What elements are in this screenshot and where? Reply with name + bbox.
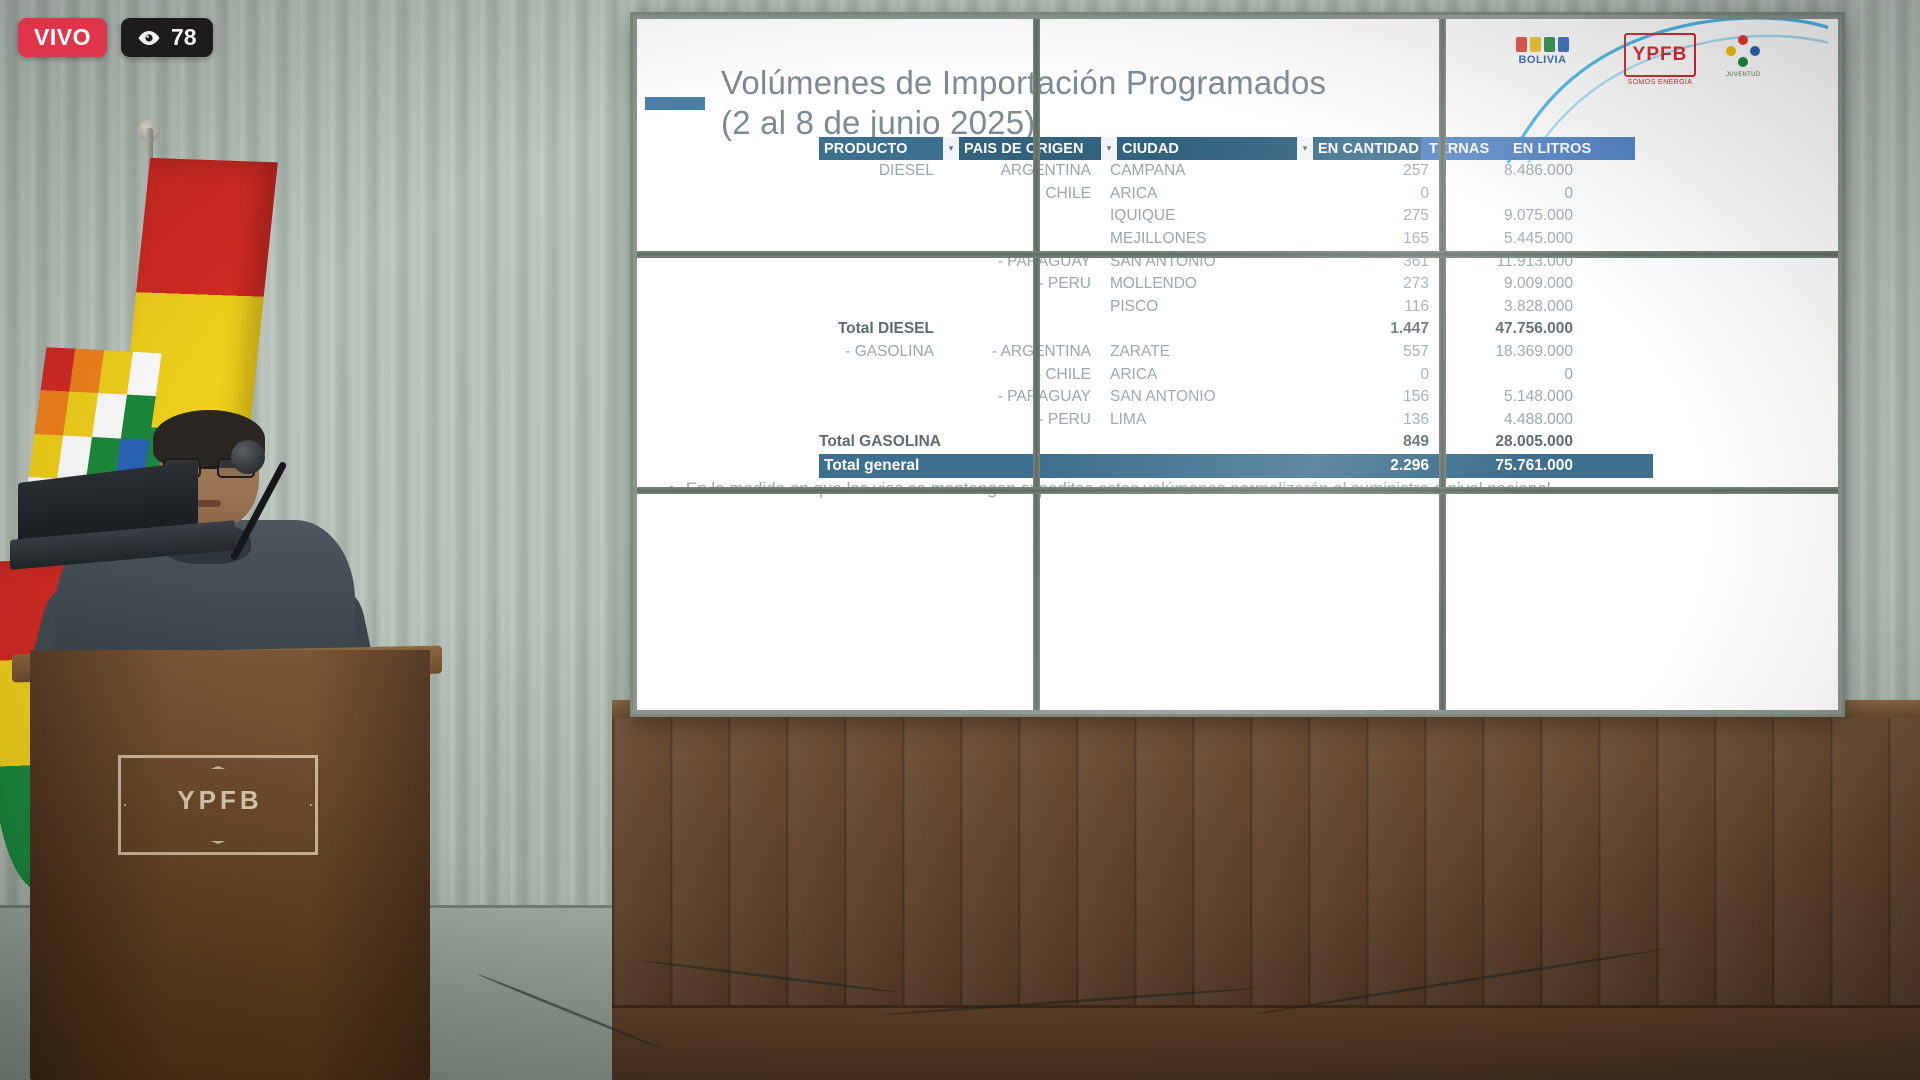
- livestream-frame: Volúmenes de Importación Programados (2 …: [0, 0, 1920, 1080]
- table-row: Total GASOLINA84928.005.000: [819, 431, 1653, 454]
- viewer-count-badge: 78: [121, 18, 213, 57]
- video-wall: Volúmenes de Importación Programados (2 …: [630, 12, 1845, 717]
- glasses-bridge: [201, 466, 217, 469]
- slide-title: Volúmenes de Importación Programados (2 …: [721, 63, 1461, 144]
- table-row: - PERULIMA1364.488.000: [819, 409, 1653, 432]
- filter-dropdown-icon[interactable]: ▾: [943, 137, 959, 160]
- stream-overlay-badges: VIVO 78: [18, 18, 213, 57]
- video-wall-bezel-horizontal: [633, 487, 1842, 494]
- cell-producto: DIESEL: [819, 162, 943, 180]
- ypfb-diamond: YPFB: [1624, 33, 1696, 77]
- cell-litros: 0: [1439, 366, 1581, 384]
- cell-litros: 47.756.000: [1439, 320, 1581, 338]
- table-header-cisternas-part2: TERNAS: [1421, 137, 1505, 160]
- third-logo: JUVENTUD: [1726, 35, 1760, 78]
- cell-cisternas: 257: [1297, 162, 1439, 180]
- podium: [30, 650, 430, 1080]
- cell-pais-origen: - PARAGUAY: [943, 388, 1101, 406]
- third-mark-dot: [1738, 35, 1748, 45]
- table-header-litros: EN LITROS: [1505, 137, 1635, 160]
- bolivia-logo-label: BOLIVIA: [1516, 54, 1569, 66]
- table-row: IQUIQUE2759.075.000: [819, 205, 1653, 228]
- video-wall-bezel-horizontal: [633, 251, 1842, 258]
- cell-litros: 0: [1439, 185, 1581, 203]
- filter-dropdown-icon[interactable]: ▾: [1297, 137, 1313, 160]
- table-header-cisternas-part1: EN CANTIDAD CIS: [1313, 137, 1421, 160]
- ypfb-logo-tagline: SOMOS ENERGÍA: [1624, 79, 1696, 86]
- cell-pais-origen: ARGENTINA: [943, 162, 1101, 180]
- cell-cisternas: 116: [1297, 298, 1439, 316]
- cell-cisternas: 165: [1297, 230, 1439, 248]
- cell-producto: Total general: [819, 457, 943, 475]
- cell-cisternas: 136: [1297, 411, 1439, 429]
- podium-shading: [30, 650, 430, 1080]
- cell-ciudad: ARICA: [1101, 366, 1297, 384]
- table-header-producto: PRODUCTO: [819, 137, 943, 160]
- table-row: - GASOLINA- ARGENTINAZARATE55718.369.000: [819, 341, 1653, 364]
- cell-pais-origen: - CHILE: [943, 185, 1101, 203]
- microphone-icon: [231, 440, 265, 474]
- cell-pais-origen: - CHILE: [943, 366, 1101, 384]
- logo-strip: BOLIVIA YPFB SOMOS ENERGÍA: [1498, 23, 1828, 115]
- filter-dropdown-icon[interactable]: ▾: [1101, 137, 1117, 160]
- table-row: - PERUMOLLENDO2739.009.000: [819, 273, 1653, 296]
- cell-cisternas: 0: [1297, 366, 1439, 384]
- ypfb-logo: YPFB SOMOS ENERGÍA: [1624, 33, 1696, 86]
- cell-pais-origen: - PERU: [943, 411, 1101, 429]
- cell-litros: 28.005.000: [1439, 433, 1581, 451]
- bolivia-mark-red: [1516, 37, 1527, 52]
- ypfb-logo-label: YPFB: [1633, 44, 1688, 66]
- cell-cisternas: 273: [1297, 275, 1439, 293]
- cell-ciudad: MEJILLONES: [1101, 230, 1297, 248]
- video-wall-screen: Volúmenes de Importación Programados (2 …: [633, 15, 1842, 714]
- cell-litros: 9.075.000: [1439, 207, 1581, 225]
- third-mark-dot: [1738, 57, 1748, 67]
- table-row: DIESELARGENTINACAMPANA2578.486.000: [819, 160, 1653, 183]
- cell-litros: 4.488.000: [1439, 411, 1581, 429]
- title-accent-bar: [645, 97, 705, 110]
- live-badge: VIVO: [18, 18, 107, 57]
- cell-ciudad: LIMA: [1101, 411, 1297, 429]
- cell-litros: 8.486.000: [1439, 162, 1581, 180]
- cell-ciudad: CAMPANA: [1101, 162, 1297, 180]
- table-body: DIESELARGENTINACAMPANA2578.486.000- CHIL…: [819, 160, 1653, 478]
- cell-ciudad: SAN ANTONIO: [1101, 388, 1297, 406]
- cell-cisternas: 1.447: [1297, 320, 1439, 338]
- slide-title-line-1: Volúmenes de Importación Programados: [721, 63, 1461, 103]
- presentation-slide: Volúmenes de Importación Programados (2 …: [633, 15, 1842, 714]
- table-row: Total DIESEL1.44747.756.000: [819, 318, 1653, 341]
- podium-label: YPFB: [120, 785, 320, 816]
- cell-litros: 5.445.000: [1439, 230, 1581, 248]
- table-header-pais: PAIS DE ORIGEN: [959, 137, 1101, 160]
- table-header-ciudad: CIUDAD: [1117, 137, 1297, 160]
- cell-producto: - GASOLINA: [819, 343, 943, 361]
- cell-ciudad: IQUIQUE: [1101, 207, 1297, 225]
- cell-litros: 18.369.000: [1439, 343, 1581, 361]
- third-logo-mark: [1726, 35, 1760, 69]
- eye-icon: [137, 30, 161, 46]
- cell-litros: 5.148.000: [1439, 388, 1581, 406]
- dais-step: [612, 1005, 1920, 1080]
- cell-ciudad: MOLLENDO: [1101, 275, 1297, 293]
- bolivia-mark-blue: [1558, 37, 1569, 52]
- cell-pais-origen: - PERU: [943, 275, 1101, 293]
- cell-cisternas: 0: [1297, 185, 1439, 203]
- cell-producto: Total GASOLINA: [819, 433, 943, 451]
- third-mark-dot: [1726, 46, 1736, 56]
- cell-ciudad: ZARATE: [1101, 343, 1297, 361]
- cell-cisternas: 275: [1297, 207, 1439, 225]
- bolivia-mark-green: [1544, 37, 1555, 52]
- cell-litros: 3.828.000: [1439, 298, 1581, 316]
- table-row: - CHILEARICA00: [819, 363, 1653, 386]
- third-logo-label: JUVENTUD: [1726, 72, 1760, 78]
- cell-litros: 9.009.000: [1439, 275, 1581, 293]
- table-row: Total general2.29675.761.000: [819, 454, 1653, 478]
- cell-litros: 75.761.000: [1439, 457, 1581, 475]
- table-row: PISCO1163.828.000: [819, 296, 1653, 319]
- cell-ciudad: PISCO: [1101, 298, 1297, 316]
- cell-cisternas: 2.296: [1297, 457, 1439, 475]
- bolivia-mark-yellow: [1530, 37, 1541, 52]
- table-row: MEJILLONES1655.445.000: [819, 228, 1653, 251]
- cell-cisternas: 557: [1297, 343, 1439, 361]
- video-wall-bezel-vertical: [1033, 15, 1040, 714]
- table-header-row: PRODUCTO ▾ PAIS DE ORIGEN ▾ CIUDAD ▾ EN …: [819, 137, 1653, 160]
- cell-cisternas: 156: [1297, 388, 1439, 406]
- cell-pais-origen: - ARGENTINA: [943, 343, 1101, 361]
- third-mark-dot: [1750, 46, 1760, 56]
- table-row: - CHILEARICA00: [819, 183, 1653, 206]
- viewer-count-value: 78: [171, 24, 197, 51]
- bolivia-logo-marks: [1516, 37, 1569, 52]
- table-row: - PARAGUAYSAN ANTONIO1565.148.000: [819, 386, 1653, 409]
- cell-cisternas: 849: [1297, 433, 1439, 451]
- video-wall-bezel-vertical: [1439, 15, 1446, 714]
- cell-producto: Total DIESEL: [819, 320, 943, 338]
- bolivia-logo: BOLIVIA: [1516, 37, 1569, 66]
- import-volumes-table: PRODUCTO ▾ PAIS DE ORIGEN ▾ CIUDAD ▾ EN …: [819, 137, 1653, 478]
- cell-ciudad: ARICA: [1101, 185, 1297, 203]
